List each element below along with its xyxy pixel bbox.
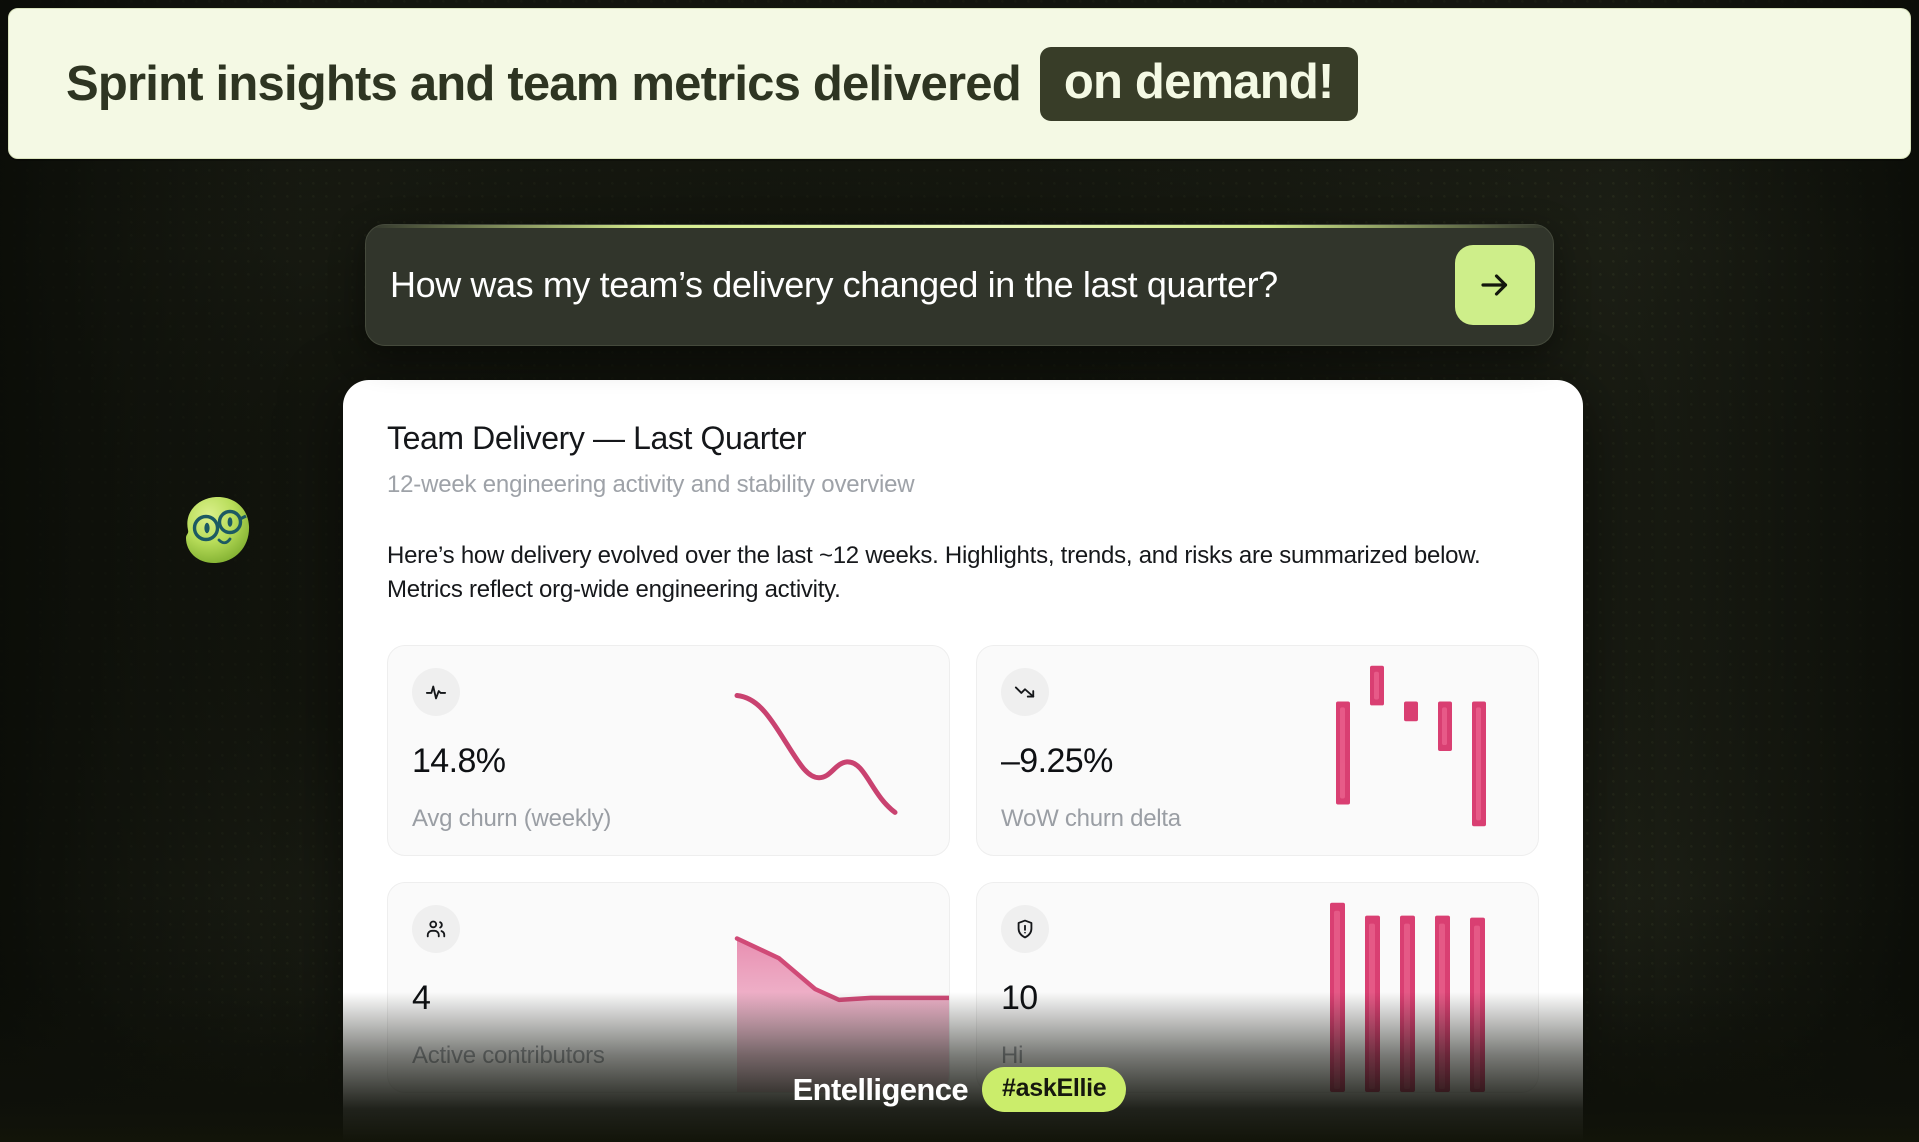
metric-value: 10 bbox=[1001, 979, 1038, 1018]
metric-card-high-severity[interactable]: 10 Hi bbox=[976, 882, 1539, 1093]
metric-label: Avg churn (weekly) bbox=[412, 805, 611, 833]
metric-label: WoW churn delta bbox=[1001, 805, 1181, 833]
prompt-bar[interactable]: How was my team’s delivery changed in th… bbox=[365, 224, 1554, 346]
arrow-right-icon bbox=[1477, 267, 1513, 303]
card-body-text: Here’s how delivery evolved over the las… bbox=[387, 539, 1492, 607]
activity-pulse-icon bbox=[412, 668, 460, 716]
users-icon bbox=[412, 905, 460, 953]
metric-value: –9.25% bbox=[1001, 742, 1113, 781]
hashtag-badge: #askEllie bbox=[982, 1067, 1126, 1112]
metric-card-avg-churn[interactable]: 14.8% Avg churn (weekly) bbox=[387, 645, 950, 856]
hero-headline-row: Sprint insights and team metrics deliver… bbox=[66, 47, 1358, 121]
brand-text-prefix: Ent bbox=[793, 1072, 841, 1108]
card-subtitle: 12-week engineering activity and stabili… bbox=[387, 471, 1539, 499]
metric-label: Active contributors bbox=[412, 1042, 605, 1070]
metric-value: 4 bbox=[412, 979, 430, 1018]
ellie-avatar bbox=[178, 492, 256, 568]
metric-card-wow-churn-delta[interactable]: –9.25% WoW churn delta bbox=[976, 645, 1539, 856]
submit-button[interactable] bbox=[1455, 245, 1535, 325]
hero-headline: Sprint insights and team metrics deliver… bbox=[66, 56, 1021, 112]
metric-label: Hi bbox=[1001, 1042, 1023, 1070]
brand-logo-e: e bbox=[841, 1072, 858, 1108]
metric-grid: 14.8% Avg churn (weekly) –9.25% WoW bbox=[387, 645, 1539, 1093]
brand-text-suffix: lligence bbox=[857, 1072, 968, 1108]
metric-value: 14.8% bbox=[412, 742, 505, 781]
sparkline-candlestick-chart bbox=[1308, 646, 1538, 855]
hero-badge: on demand! bbox=[1040, 47, 1358, 121]
card-title: Team Delivery — Last Quarter bbox=[387, 420, 1539, 457]
answer-card: Team Delivery — Last Quarter 12-week eng… bbox=[343, 380, 1583, 1142]
sparkline-line-chart bbox=[719, 646, 949, 855]
trending-down-icon bbox=[1001, 668, 1049, 716]
sparkline-bar-chart bbox=[1308, 883, 1538, 1092]
shield-alert-icon bbox=[1001, 905, 1049, 953]
page-root: Sprint insights and team metrics deliver… bbox=[0, 0, 1919, 1142]
footer-brand: Ent e lligence #askEllie bbox=[0, 1067, 1919, 1112]
sparkline-area-chart bbox=[719, 883, 949, 1092]
prompt-input[interactable]: How was my team’s delivery changed in th… bbox=[390, 264, 1455, 306]
brand-wordmark: Ent e lligence bbox=[793, 1072, 968, 1108]
prompt-bar-wrapper: How was my team’s delivery changed in th… bbox=[365, 224, 1554, 346]
hero-banner: Sprint insights and team metrics deliver… bbox=[8, 8, 1911, 159]
metric-card-active-contributors[interactable]: 4 Active contributors bbox=[387, 882, 950, 1093]
